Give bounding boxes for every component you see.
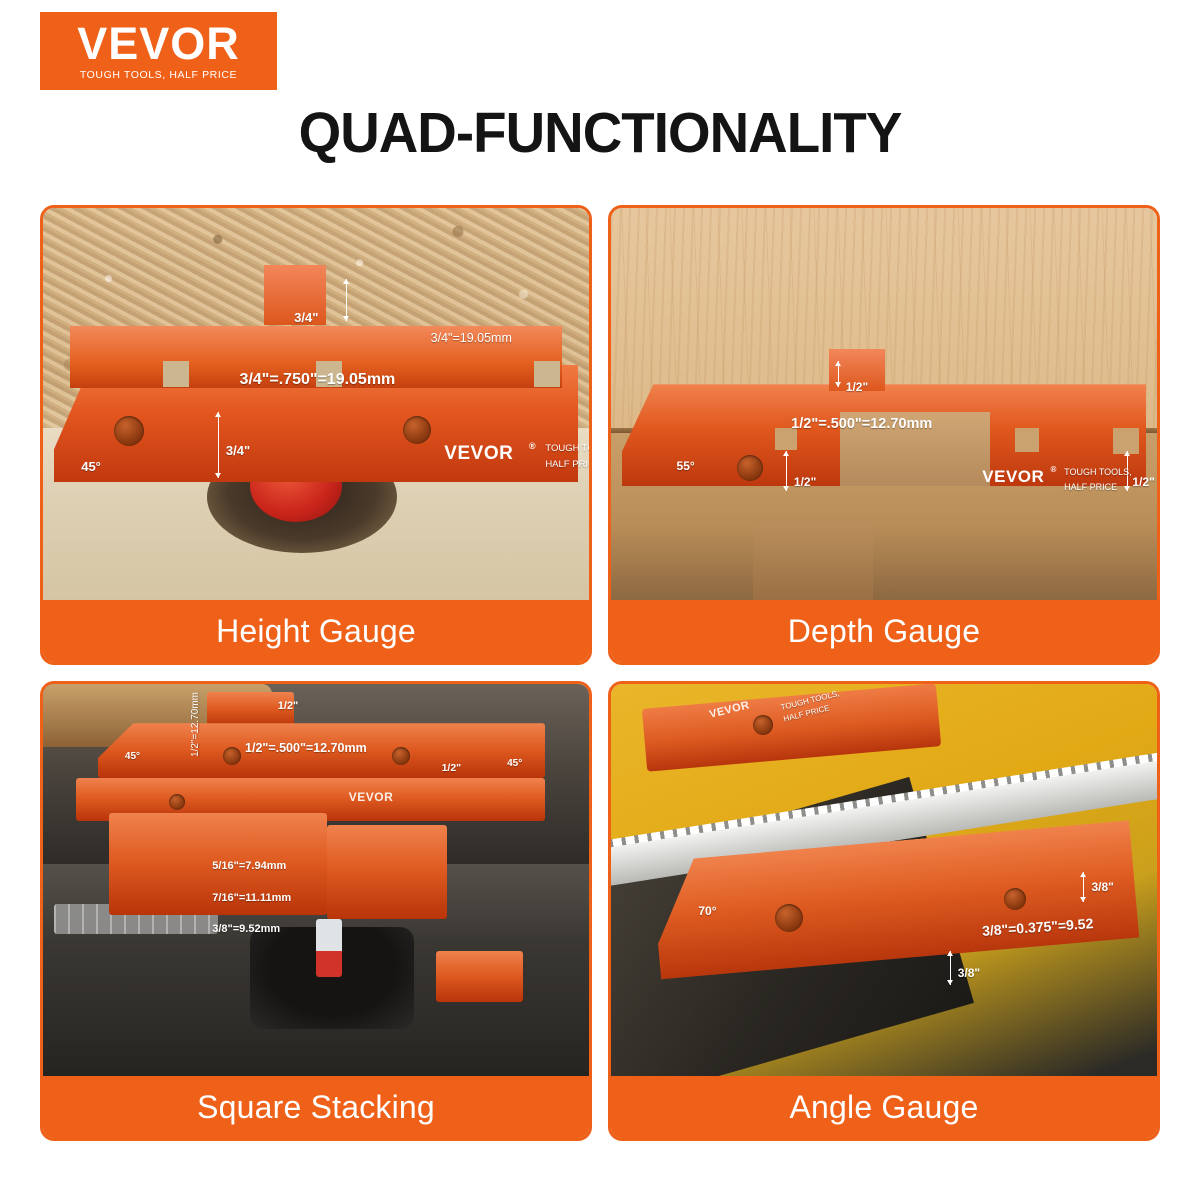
- gauge-hole: [737, 455, 763, 481]
- marking-angle: 55°: [677, 459, 695, 473]
- marking-right-size: 1/2": [1132, 475, 1154, 489]
- marking-angle: 45°: [81, 459, 101, 474]
- marking-main-size: 3/4"=.750"=19.05mm: [240, 371, 396, 389]
- brand-name: VEVOR: [77, 22, 240, 66]
- marking-arm-size: 1/2"=12.70mm: [190, 692, 201, 757]
- engraved-tagline-line1: TOUGH TOOLS,: [545, 443, 589, 454]
- marking-inner-size: 1/2": [794, 475, 816, 489]
- dimension-arrow: [218, 412, 219, 478]
- card-caption-height-gauge: Height Gauge: [43, 600, 589, 662]
- gauge-notch: [1015, 428, 1039, 452]
- marking-angle-right: 45°: [507, 758, 522, 769]
- engraved-tagline-line1: TOUGH TOOLS,: [1064, 467, 1132, 477]
- marking-arm-size: 3/4"=19.05mm: [431, 331, 512, 345]
- photo-square-stacking: 1/2" 1/2"=12.70mm 1/2"=.500"=12.70mm 1/2…: [43, 684, 589, 1076]
- marking-right-size: 1/2": [442, 762, 462, 774]
- marking-main-size: 1/2"=.500"=12.70mm: [791, 416, 932, 432]
- card-caption-depth-gauge: Depth Gauge: [611, 600, 1157, 662]
- engraved-brand-registered: ®: [529, 441, 536, 451]
- gauge-hole: [403, 416, 431, 444]
- marking-angle: 70°: [698, 904, 716, 918]
- engraved-tagline-line2: HALF PRICE: [545, 459, 589, 470]
- gauge-hole: [169, 794, 185, 810]
- feature-grid: 3/4" 3/4"=19.05mm 3/4"=.750"=19.05mm 45°…: [40, 205, 1160, 1165]
- gauge-hole: [223, 747, 241, 765]
- marking-inner-size: 3/8": [958, 966, 980, 980]
- gauge-notch: [534, 361, 560, 387]
- marking-inner-size: 3/4": [226, 443, 250, 458]
- marking-angle-left: 45°: [125, 751, 140, 762]
- photo-depth-gauge: 1/2" 1/2"=.500"=12.70mm 55° 1/2" 1/2" VE…: [611, 208, 1157, 600]
- gauge-hole: [775, 904, 803, 932]
- gauge-notch: [163, 361, 189, 387]
- dimension-arrow: [346, 279, 347, 321]
- gauge-hole: [1004, 888, 1026, 910]
- loose-square-block: [436, 951, 523, 1002]
- stacked-square-right: [327, 825, 447, 919]
- dimension-arrow: [1083, 872, 1084, 902]
- feature-card-angle-gauge: 3/8" 3/8" 3/8"=0.375"=9.52 70° VEVOR TOU…: [608, 681, 1160, 1141]
- marking-tab-size: 1/2": [846, 380, 868, 394]
- marking-stack-3: 3/8"=9.52mm: [212, 923, 280, 935]
- marking-tab-size: 1/2": [278, 700, 299, 712]
- marking-tab-size: 3/4": [294, 310, 318, 325]
- marking-tab-size: 3/8": [1091, 880, 1113, 894]
- engraved-tagline-line2: HALF PRICE: [1064, 482, 1117, 492]
- feature-card-height-gauge: 3/4" 3/4"=19.05mm 3/4"=.750"=19.05mm 45°…: [40, 205, 592, 665]
- plywood-support-block: [753, 522, 873, 600]
- marking-main-size: 1/2"=.500"=12.70mm: [245, 741, 367, 755]
- engraved-brand: VEVOR: [349, 790, 394, 804]
- engraved-brand: VEVOR: [982, 467, 1044, 487]
- brand-logo: VEVOR TOUGH TOOLS, HALF PRICE: [40, 12, 277, 90]
- brand-tagline: TOUGH TOOLS, HALF PRICE: [80, 69, 237, 81]
- card-caption-square-stacking: Square Stacking: [43, 1076, 589, 1138]
- photo-height-gauge: 3/4" 3/4"=19.05mm 3/4"=.750"=19.05mm 45°…: [43, 208, 589, 600]
- dimension-arrow: [786, 451, 787, 491]
- marking-stack-2: 7/16"=11.11mm: [212, 892, 291, 904]
- gauge-hole: [114, 416, 144, 446]
- page-title: QUAD-FUNCTIONALITY: [24, 100, 1176, 166]
- gauge-notch: [1113, 428, 1139, 454]
- dimension-arrow: [838, 361, 839, 387]
- feature-card-depth-gauge: 1/2" 1/2"=.500"=12.70mm 55° 1/2" 1/2" VE…: [608, 205, 1160, 665]
- engraved-brand: VEVOR: [444, 443, 513, 465]
- feature-card-square-stacking: 1/2" 1/2"=12.70mm 1/2"=.500"=12.70mm 1/2…: [40, 681, 592, 1141]
- engraved-brand-registered: ®: [1051, 465, 1057, 474]
- dimension-arrow: [950, 951, 951, 985]
- router-bit: [316, 919, 342, 977]
- photo-angle-gauge: 3/8" 3/8" 3/8"=0.375"=9.52 70° VEVOR TOU…: [611, 684, 1157, 1076]
- marking-stack-1: 5/16"=7.94mm: [212, 860, 286, 872]
- card-caption-angle-gauge: Angle Gauge: [611, 1076, 1157, 1138]
